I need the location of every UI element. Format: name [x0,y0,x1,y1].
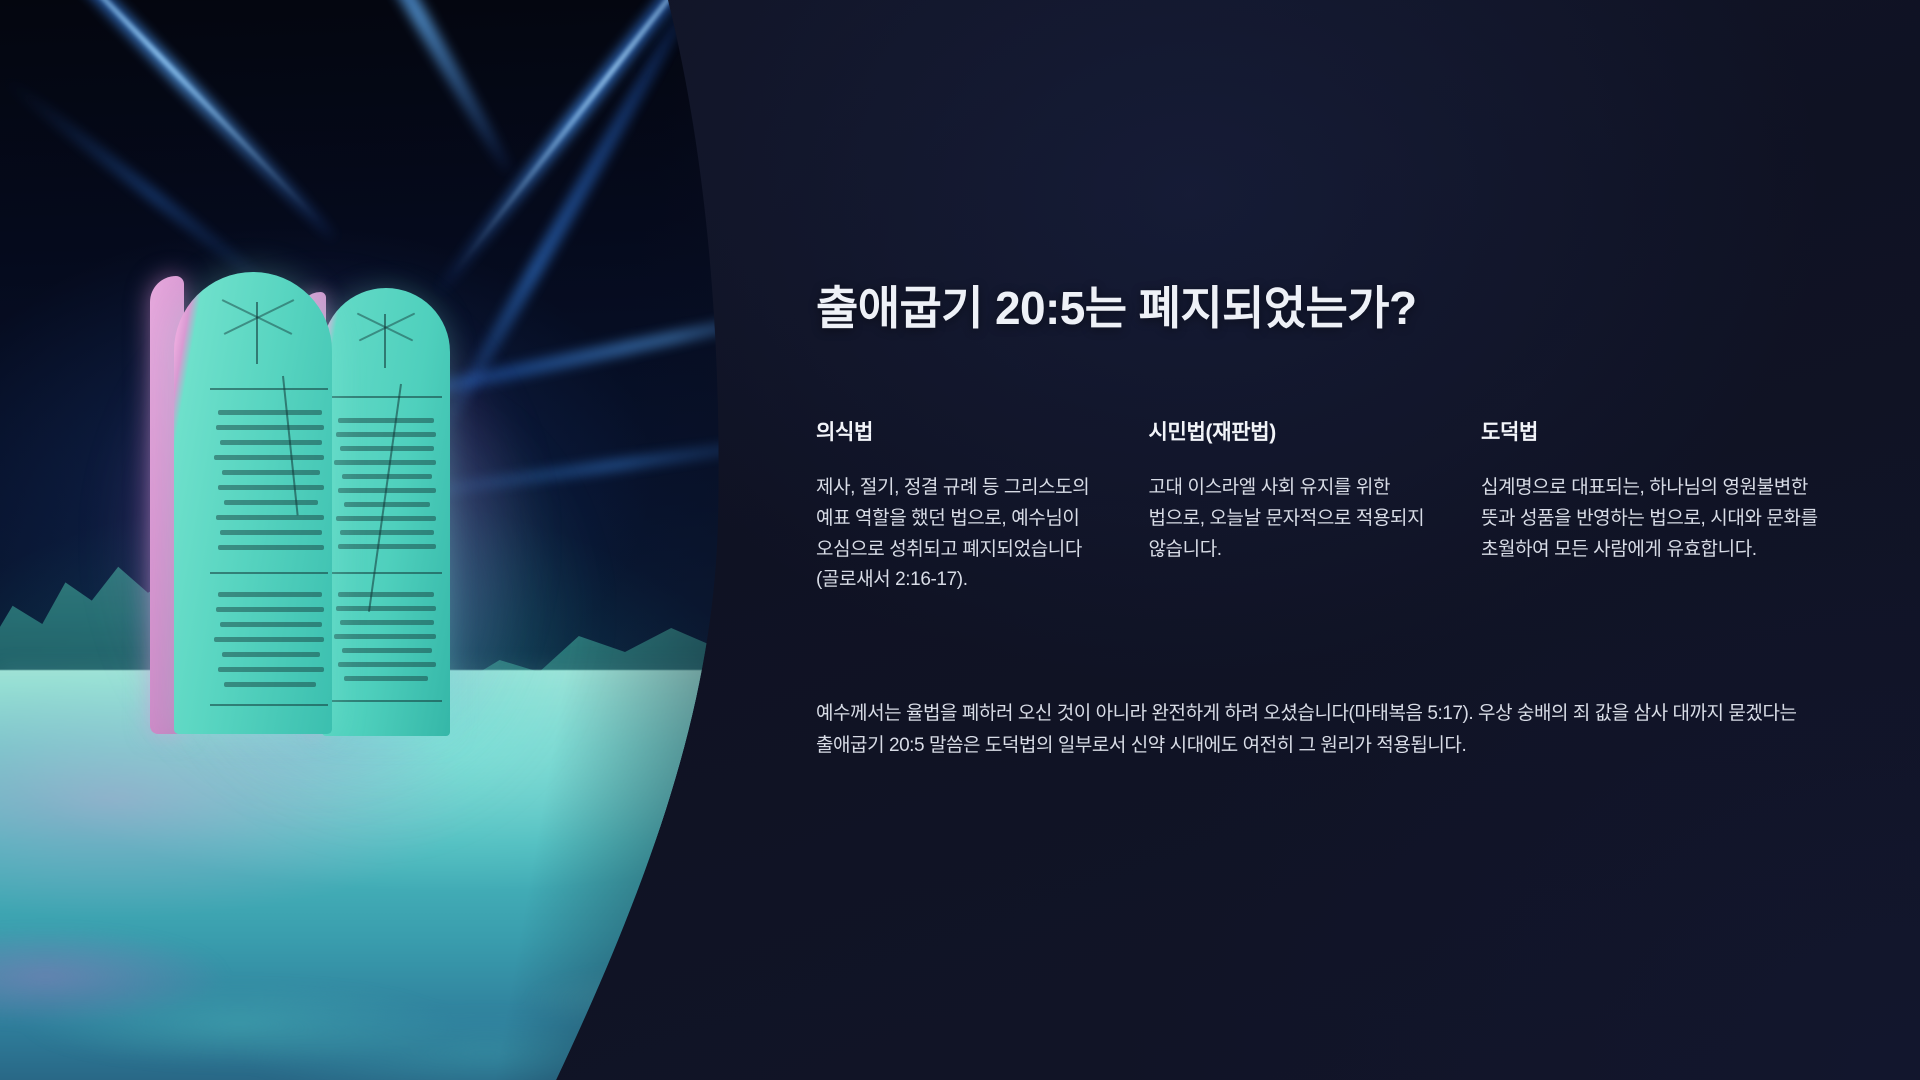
stone-tablet-back [322,288,450,736]
tablet-text-line [338,662,436,667]
tablet-text-line [336,432,436,437]
tablet-text-line [340,530,434,535]
tablet-text-line [340,620,434,625]
tablet-text-line [340,446,434,451]
menorah-icon [384,314,386,368]
summary-paragraph: 예수께서는 율법을 폐하러 오신 것이 아니라 완전하게 하려 오셨습니다(마태… [816,698,1826,762]
page-title: 출애굽기 20:5는 폐지되었는가? [816,272,1416,338]
tablet-text-line [334,460,436,465]
tablet-text-line [216,515,324,520]
tablet-text-line [218,545,324,550]
tablet-text-line [342,648,432,653]
tablet-divider-line [210,704,328,706]
column-body: 십계명으로 대표되는, 하나님의 영원불변한 뜻과 성품을 반영하는 법으로, … [1481,473,1830,565]
tablet-text-line [224,500,318,505]
tablet-divider-line [210,572,328,574]
tablet-text-line [216,607,324,612]
tablet-text-line [338,418,434,423]
law-categories: 의식법 제사, 절기, 정결 규례 등 그리스도의 예표 역할을 했던 법으로,… [816,416,1830,596]
tablet-text-line [214,455,324,460]
tablet-text-line [218,485,324,490]
column-body: 제사, 절기, 정결 규례 등 그리스도의 예표 역할을 했던 법으로, 예수님… [816,473,1094,596]
content-panel: 출애굽기 20:5는 폐지되었는가? 의식법 제사, 절기, 정결 규례 등 그… [816,0,1830,1080]
tablet-text-line [220,622,322,627]
tablet-text-line [336,516,436,521]
tablet-text-line [218,410,322,415]
tablet-text-line [222,470,320,475]
stone-tablets-group [0,0,760,1080]
tablet-text-line [220,530,322,535]
slide-root: 출애굽기 20:5는 폐지되었는가? 의식법 제사, 절기, 정결 규례 등 그… [0,0,1920,1080]
tablet-divider-line [210,388,328,390]
column-heading: 시민법(재판법) [1148,416,1426,446]
tablet-text-line [222,652,320,657]
law-category-ceremonial: 의식법 제사, 절기, 정결 규례 등 그리스도의 예표 역할을 했던 법으로,… [816,416,1148,596]
tablet-text-line [218,592,322,597]
tablet-text-line [224,682,316,687]
tablet-text-line [214,637,324,642]
stone-tablet-front [174,272,332,734]
tablet-text-line [216,425,324,430]
tablet-text-line [344,502,430,507]
tablet-divider-line [330,700,442,702]
tablet-divider-line [330,396,442,398]
column-heading: 의식법 [816,416,1094,446]
tablet-text-line [334,634,436,639]
tablet-text-line [344,676,428,681]
tablet-text-line [338,592,434,597]
menorah-icon [256,302,258,364]
column-body: 고대 이스라엘 사회 유지를 위한 법으로, 오늘날 문자적으로 적용되지 않습… [1148,473,1426,565]
tablet-text-line [218,667,324,672]
tablet-text-line [338,544,436,549]
column-heading: 도덕법 [1481,416,1830,446]
law-category-moral: 도덕법 십계명으로 대표되는, 하나님의 영원불변한 뜻과 성품을 반영하는 법… [1481,416,1830,596]
tablet-divider-line [330,572,442,574]
tablet-text-line [220,440,322,445]
tablet-crack [282,376,299,515]
illustration-panel [0,0,760,1080]
tablet-text-line [336,606,436,611]
law-category-civil: 시민법(재판법) 고대 이스라엘 사회 유지를 위한 법으로, 오늘날 문자적으… [1148,416,1480,596]
